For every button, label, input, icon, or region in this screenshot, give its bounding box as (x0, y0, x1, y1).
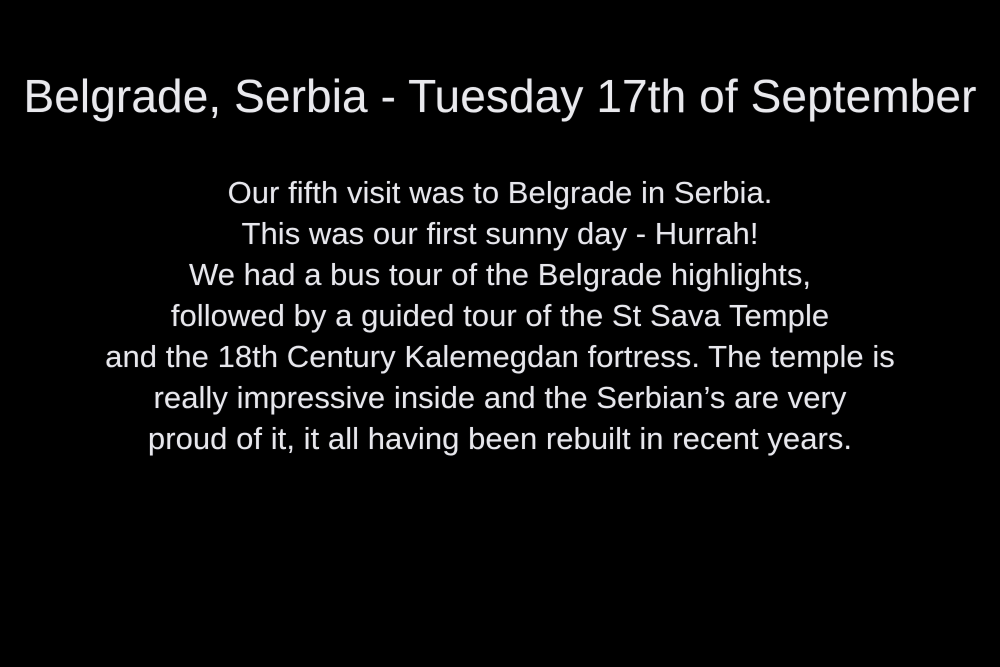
body-line: Our fifth visit was to Belgrade in Serbi… (0, 172, 1000, 213)
slide-body-text: Our fifth visit was to Belgrade in Serbi… (0, 172, 1000, 459)
body-line: really impressive inside and the Serbian… (0, 377, 1000, 418)
body-line: followed by a guided tour of the St Sava… (0, 295, 1000, 336)
body-line: and the 18th Century Kalemegdan fortress… (0, 336, 1000, 377)
body-line: proud of it, it all having been rebuilt … (0, 418, 1000, 459)
slide-canvas: Belgrade, Serbia - Tuesday 17th of Septe… (0, 0, 1000, 667)
body-line: This was our first sunny day - Hurrah! (0, 213, 1000, 254)
body-line: We had a bus tour of the Belgrade highli… (0, 254, 1000, 295)
page-title: Belgrade, Serbia - Tuesday 17th of Septe… (0, 70, 1000, 122)
